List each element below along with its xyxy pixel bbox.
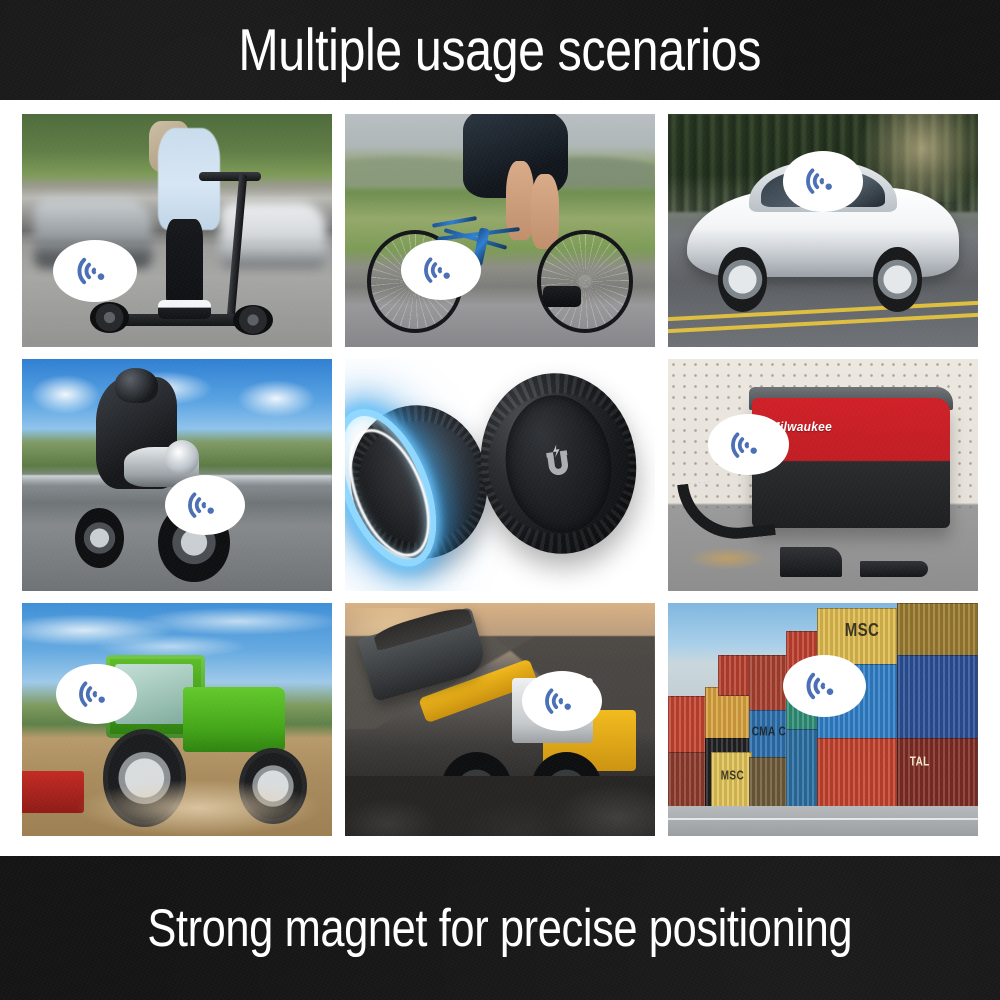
title-band: Multiple usage scenarios — [0, 0, 1000, 100]
tile-wheel-loader[interactable] — [345, 603, 655, 836]
motorcycle-photo — [22, 359, 332, 592]
wifi-signal-icon — [56, 664, 137, 724]
wifi-signal-icon — [401, 240, 482, 300]
container-label: TAL — [910, 756, 930, 770]
caption-band: Strong magnet for precise positioning — [0, 856, 1000, 1000]
wifi-signal-icon — [708, 414, 789, 474]
wifi-signal-icon — [783, 151, 864, 211]
page-title: Multiple usage scenarios — [239, 21, 762, 80]
container-label: MSC — [721, 769, 744, 783]
tile-shop-vacuum[interactable]: Milwaukee — [668, 359, 978, 592]
promotional-poster: Multiple usage scenarios — [0, 0, 1000, 1000]
tractor-photo — [22, 603, 332, 836]
scenario-grid: Milwaukee — [22, 114, 978, 836]
tracker-puck-glowing — [345, 395, 500, 570]
tile-car[interactable] — [668, 114, 978, 347]
tile-bicycle[interactable] — [345, 114, 655, 347]
tile-tractor[interactable] — [22, 603, 332, 836]
magnet-icon — [533, 432, 585, 496]
wifi-signal-icon — [522, 671, 603, 731]
tile-scooter[interactable] — [22, 114, 332, 347]
wifi-signal-icon — [53, 240, 137, 303]
bicycle-photo — [345, 114, 655, 347]
tracker-puck-magnet-face — [470, 363, 649, 564]
page-caption: Strong magnet for precise positioning — [148, 902, 853, 955]
shop-vacuum-photo: Milwaukee — [668, 359, 978, 592]
car-photo — [668, 114, 978, 347]
containers-photo: CMA CGM MSC MSC TAL — [668, 603, 978, 836]
container-label: MSC — [845, 620, 880, 641]
tile-product[interactable] — [345, 359, 655, 592]
wheel-loader-photo — [345, 603, 655, 836]
scooter-photo — [22, 114, 332, 347]
scenario-gallery-panel: Milwaukee — [0, 100, 1000, 856]
tile-shipping-containers[interactable]: CMA CGM MSC MSC TAL — [668, 603, 978, 836]
wifi-signal-icon — [783, 655, 867, 718]
tile-motorcycle[interactable] — [22, 359, 332, 592]
product-image — [345, 359, 655, 592]
